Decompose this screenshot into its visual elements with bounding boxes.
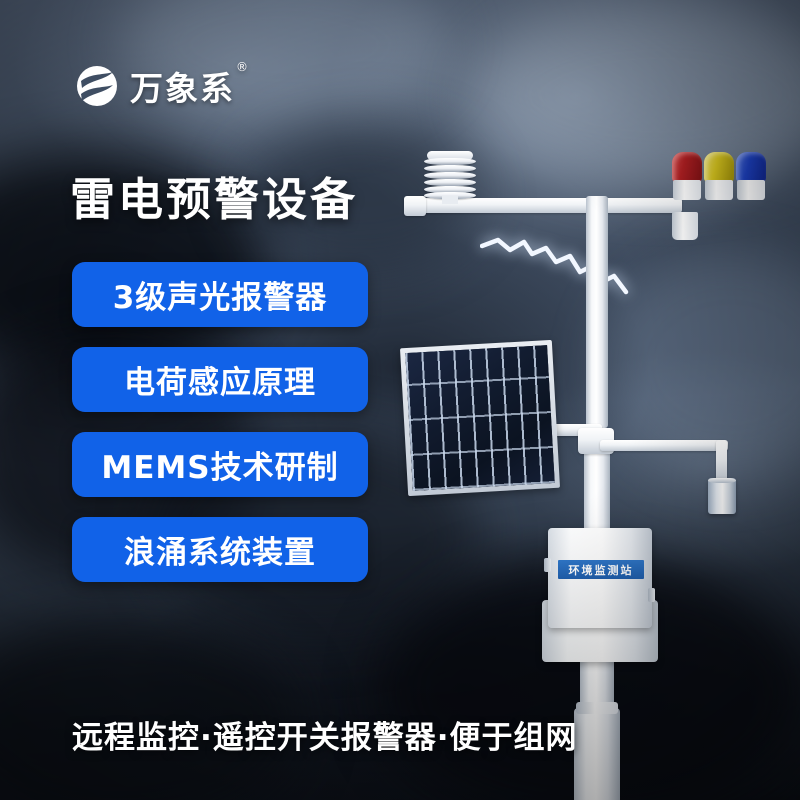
feature-pill-1-label: 3级声光报警器 (113, 272, 328, 317)
product-banner: 环境监测站 万象系® 雷电预警设备 3级声光报警器 电荷感应原理 MEMS技术研… (0, 0, 800, 800)
brand-logo: 万象系® (75, 62, 235, 110)
feature-pill-1: 3级声光报警器 (72, 262, 368, 327)
feature-list: 3级声光报警器 电荷感应原理 MEMS技术研制 浪涌系统装置 (72, 262, 368, 582)
trademark-symbol: ® (236, 60, 250, 74)
feature-pill-3: MEMS技术研制 (72, 432, 368, 497)
page-title: 雷电预警设备 (70, 163, 358, 228)
feature-pill-2-label: 电荷感应原理 (124, 357, 316, 402)
swirl-globe-logo-icon (75, 64, 119, 108)
feature-pill-4: 浪涌系统装置 (72, 517, 368, 582)
feature-pill-2: 电荷感应原理 (72, 347, 368, 412)
feature-pill-4-label: 浪涌系统装置 (124, 527, 316, 572)
brand-name: 万象系® (130, 62, 235, 110)
feature-pill-3-label: MEMS技术研制 (101, 442, 338, 487)
footer-tagline: 远程监控·遥控开关报警器·便于组网 (72, 712, 578, 757)
